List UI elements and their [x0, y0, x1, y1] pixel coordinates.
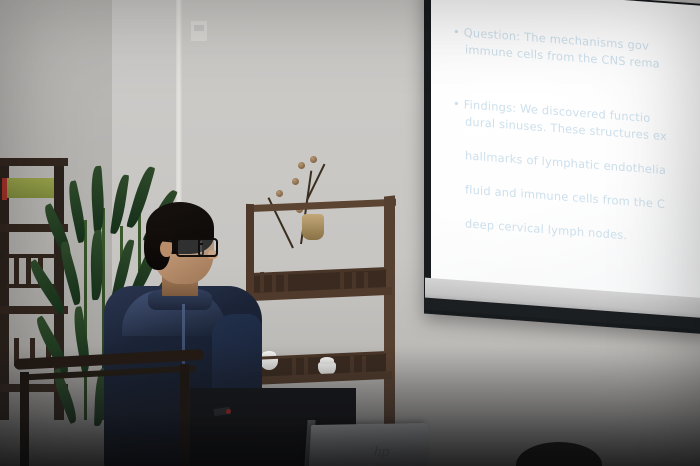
glasses-icon	[198, 238, 218, 257]
dried-flower-branch	[266, 156, 336, 266]
wall-fixture-icon	[190, 20, 208, 42]
branch-vase	[302, 214, 324, 240]
slide-line: deep cervical lymph nodes.	[453, 214, 667, 247]
branch-bud	[276, 190, 283, 197]
rack-slat	[272, 272, 276, 292]
slide-content: • Question: The mechanisms gov immune ce…	[431, 0, 700, 306]
presenter-ear	[160, 240, 172, 257]
slide-line: hallmarks of lymphatic endothelia	[453, 146, 667, 179]
shelf-slat	[14, 256, 19, 284]
branch-bud	[298, 162, 305, 169]
shelf-green-box	[6, 178, 54, 198]
branch-bud	[292, 178, 299, 185]
branch-bud	[310, 156, 317, 163]
rack-slat	[284, 272, 288, 292]
shelf-rail	[6, 254, 56, 258]
shelf-slat	[26, 256, 31, 284]
plant-leaf	[57, 241, 85, 306]
shelf-red-marker	[2, 178, 7, 200]
slide-bullet-question: • Question: The mechanisms gov immune ce…	[453, 23, 660, 72]
slide-line: fluid and immune cells from the C	[453, 180, 667, 213]
room-shadow	[0, 346, 700, 466]
slide-bullet-findings: • Findings: We discovered functio dural …	[453, 95, 667, 247]
presentation-photo: • Question: The mechanisms gov immune ce…	[0, 0, 700, 466]
glasses-bridge	[199, 243, 203, 245]
